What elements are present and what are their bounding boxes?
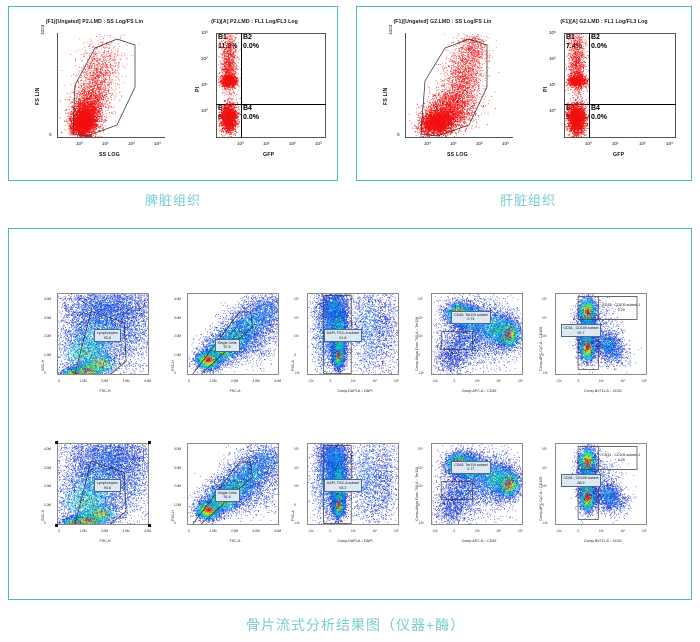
y-tick-4: 10⁵ [294, 297, 299, 301]
x-tick-3: 3.0M [253, 529, 260, 533]
y-tick-0: -10³ [542, 521, 548, 525]
x-tick-1: 1.0M [80, 379, 87, 383]
gate-label-2[interactable]: CD31 , CD105 subset-10.25 [599, 451, 643, 464]
y-tick-1: 0 [542, 503, 544, 507]
y-tick-3: 10⁴ [294, 316, 299, 320]
x-tick-4: 10⁵ [642, 529, 647, 533]
gate-label[interactable]: Lymphocytes90.8 [94, 479, 121, 492]
y-tick-0: 0 [174, 371, 176, 375]
y-tick-0: -10³ [418, 521, 424, 525]
plot-frame[interactable] [431, 443, 523, 525]
bone-plot-lymphocytes-row2: FSC-HSSC-H01.0M2.0M3.0M4.0M01.0M2.0M3.0M… [31, 437, 153, 545]
x-tick-1: 0 [330, 379, 332, 383]
x-axis-label: FSC-H [59, 389, 151, 393]
x-axis-label: Comp-BV711-A :: CD31 [557, 389, 649, 393]
y-tick-0: -10³ [294, 521, 300, 525]
x-tick-2: 10³ [599, 529, 604, 533]
dot-cloud [525, 15, 685, 165]
selection-handle-2[interactable] [55, 524, 58, 527]
y-tick-4: 4.0M [174, 447, 181, 451]
bone-plot-dapi-row2: Comp-DAPI-A :: DAPIFSC-A-10³010³10⁴10⁵-1… [281, 437, 403, 545]
x-tick-0: -10³ [556, 529, 562, 533]
x-tick-3: 3.0M [253, 379, 260, 383]
gate-polygon[interactable] [17, 15, 172, 165]
x-tick-0: -10³ [556, 379, 562, 383]
gate-label[interactable]: Single Cells97.6 [215, 339, 240, 352]
bone-plot-singlecells-row1: FSC-AFSC-H01.0M2.0M3.0M4.0M01.0M2.0M3.0M… [161, 287, 283, 395]
bone-plot-cd45-row1: Comp-APC-A :: CD45Comp-Alexa Fluor 700-A… [405, 287, 527, 395]
x-tick-3: 10⁴ [497, 529, 502, 533]
plot-frame[interactable] [431, 293, 523, 375]
y-tick-0: -10³ [542, 371, 548, 375]
y-tick-2: 10³ [294, 484, 299, 488]
y-tick-0: -10³ [418, 371, 424, 375]
y-tick-2: 10³ [418, 484, 423, 488]
y-tick-4: 4.0M [44, 447, 51, 451]
x-tick-1: 0 [454, 529, 456, 533]
x-tick-3: 3.0M [123, 529, 130, 533]
x-tick-4: 10⁵ [518, 529, 523, 533]
density-canvas [188, 294, 279, 375]
density-canvas [432, 294, 523, 375]
y-tick-2: 2.0M [44, 334, 51, 338]
y-tick-1: 1.0M [174, 503, 181, 507]
caption-bottom: 骨片流式分析结果图（仪器+酶） [246, 615, 465, 635]
density-canvas [432, 444, 523, 525]
x-tick-4: 10⁵ [518, 379, 523, 383]
plot-frame[interactable] [187, 293, 279, 375]
x-tick-3: 10⁴ [373, 379, 378, 383]
x-tick-1: 1.0M [210, 529, 217, 533]
x-tick-0: 0 [58, 379, 60, 383]
x-tick-1: 0 [330, 529, 332, 533]
y-tick-3: 3.0M [44, 466, 51, 470]
y-tick-1: 1.0M [44, 353, 51, 357]
x-tick-2: 10³ [475, 379, 480, 383]
gate-label-2[interactable]: CD31 , CD105 subset-10.20 [599, 301, 643, 314]
y-tick-2: 2.0M [174, 334, 181, 338]
x-tick-3: 10⁴ [497, 379, 502, 383]
x-axis-label: Comp-DAPI-A :: DAPI [309, 539, 401, 543]
x-tick-0: -10³ [308, 379, 314, 383]
x-tick-0: 0 [58, 529, 60, 533]
y-axis-label: SSC-H [41, 510, 45, 521]
x-tick-2: 2.0M [101, 529, 108, 533]
x-tick-4: 10⁵ [394, 529, 399, 533]
y-tick-3: 3.0M [44, 316, 51, 320]
y-tick-0: 0 [44, 521, 46, 525]
y-tick-4: 4.0M [174, 297, 181, 301]
y-tick-1: 0 [418, 503, 420, 507]
y-tick-3: 10⁴ [294, 466, 299, 470]
y-axis-label: SSC-H [41, 360, 45, 371]
y-tick-3: 3.0M [174, 316, 181, 320]
y-tick-2: 10³ [294, 334, 299, 338]
x-tick-2: 10³ [475, 529, 480, 533]
y-axis-label: FSC-A [291, 360, 295, 371]
x-tick-2: 2.0M [231, 529, 238, 533]
selection-handle-3[interactable] [148, 524, 151, 527]
x-tick-2: 10³ [351, 529, 356, 533]
x-tick-3: 10⁴ [621, 379, 626, 383]
y-tick-4: 4.0M [44, 297, 51, 301]
y-axis-label: Comp-Alexa Fluor 700-A :: Ter119 [415, 317, 419, 371]
caption-liver: 肝脏组织 [500, 190, 556, 209]
y-tick-1: 1.0M [174, 353, 181, 357]
gate-polygon[interactable] [365, 15, 520, 165]
y-tick-1: 0 [418, 353, 420, 357]
x-tick-2: 2.0M [231, 379, 238, 383]
y-tick-3: 10⁴ [542, 466, 547, 470]
x-axis-label: FSC-H [59, 539, 151, 543]
gate-label[interactable]: Lymphocytes93.8 [94, 329, 121, 342]
x-tick-0: -10³ [308, 529, 314, 533]
gate-label[interactable]: CD45, Ter119 subset0.74 [451, 311, 490, 324]
x-tick-3: 10⁴ [621, 529, 626, 533]
y-tick-3: 10⁴ [542, 316, 547, 320]
x-tick-2: 2.0M [101, 379, 108, 383]
bone-plot-cd45-row2: Comp-APC-A :: CD45Comp-Alexa Fluor 700-A… [405, 437, 527, 545]
x-axis-label: FSC-A [189, 389, 281, 393]
x-tick-3: 3.0M [123, 379, 130, 383]
y-tick-3: 10⁴ [418, 316, 423, 320]
x-axis-label: Comp-BV711-A :: CD31 [557, 539, 649, 543]
y-tick-1: 0 [294, 503, 296, 507]
liver-gfp-pi-plot: (F1)[A] G2.LMD : FL1 Log/FL3 Log 10³ 10²… [525, 15, 685, 165]
plot-frame[interactable] [187, 443, 279, 525]
y-tick-2: 2.0M [44, 484, 51, 488]
y-tick-4: 10⁵ [418, 297, 423, 301]
caption-spleen: 脾脏组织 [145, 190, 201, 209]
x-axis-label: Comp-APC-A :: CD45 [433, 389, 525, 393]
y-tick-4: 10⁵ [294, 447, 299, 451]
selection-handle-0[interactable] [55, 441, 58, 444]
x-tick-4: 4.0M [144, 529, 151, 533]
spleen-gfp-pi-plot: (F1)[A] P2.LMD : FL1 Log/FL3 Log 10³ 10²… [177, 15, 332, 165]
x-tick-1: 0 [578, 379, 580, 383]
y-tick-1: 0 [542, 353, 544, 357]
gate-label[interactable]: CD31 , CD105 subset92.7 [561, 324, 602, 337]
x-tick-4: 10⁵ [642, 379, 647, 383]
gate-label[interactable]: DAPI, FSC-A subset93.2 [324, 479, 363, 492]
x-tick-4: 10⁵ [394, 379, 399, 383]
dot-cloud [177, 15, 332, 165]
x-tick-0: 0 [188, 529, 190, 533]
x-tick-1: 0 [578, 529, 580, 533]
y-tick-4: 10⁵ [542, 447, 547, 451]
bone-plot-lymphocytes-row1: FSC-HSSC-H01.0M2.0M3.0M4.0M01.0M2.0M3.0M… [31, 287, 153, 395]
y-axis-label: FSC-H [171, 510, 175, 521]
x-axis-label: FSC-A [189, 539, 281, 543]
x-tick-1: 1.0M [80, 529, 87, 533]
gate-label[interactable]: CD31 , CD105 subset88.9 [561, 474, 602, 487]
bone-plot-cd31-row2: Comp-BV711-A :: CD31Comp-APC-Cy7-A :: CD… [529, 437, 651, 545]
y-tick-3: 10⁴ [418, 466, 423, 470]
x-tick-0: -10³ [432, 379, 438, 383]
gate-label[interactable]: DAPI, FSC-A subset91.6 [324, 329, 363, 342]
x-tick-2: 10³ [599, 379, 604, 383]
y-tick-3: 3.0M [174, 466, 181, 470]
y-tick-0: 0 [44, 371, 46, 375]
x-tick-1: 0 [454, 379, 456, 383]
y-tick-2: 10³ [542, 334, 547, 338]
selection-handle-1[interactable] [148, 441, 151, 444]
liver-ssc-fsc-plot: (F1)[Ungated] G2.LMD : SS Log/FS Lin 102… [365, 15, 520, 165]
gate-label[interactable]: CD45, Ter119 subset0.77 [451, 461, 490, 474]
y-tick-1: 1.0M [44, 503, 51, 507]
bone-plot-singlecells-row2: FSC-AFSC-H01.0M2.0M3.0M4.0M01.0M2.0M3.0M… [161, 437, 283, 545]
x-tick-1: 1.0M [210, 379, 217, 383]
y-tick-2: 10³ [418, 334, 423, 338]
y-axis-label: FSC-A [291, 510, 295, 521]
spleen-panel: (F1)[Ungated] P2.LMD : SS Log/FS Lin 102… [8, 6, 338, 181]
spleen-ssc-fsc-plot: (F1)[Ungated] P2.LMD : SS Log/FS Lin 102… [17, 15, 172, 165]
gate-label[interactable]: Single Cells91.6 [215, 489, 240, 502]
bone-plot-dapi-row1: Comp-DAPI-A :: DAPIFSC-A-10³010³10⁴10⁵-1… [281, 287, 403, 395]
x-tick-4: 4.0M [144, 379, 151, 383]
x-tick-2: 10³ [351, 379, 356, 383]
y-axis-label: Comp-Alexa Fluor 700-A :: Ter119 [415, 467, 419, 521]
y-tick-2: 10³ [542, 484, 547, 488]
x-tick-3: 10⁴ [373, 529, 378, 533]
bone-flow-panel: FSC-HSSC-H01.0M2.0M3.0M4.0M01.0M2.0M3.0M… [8, 228, 692, 600]
density-canvas [188, 444, 279, 525]
x-axis-label: Comp-DAPI-A :: DAPI [309, 389, 401, 393]
y-tick-1: 0 [294, 353, 296, 357]
y-tick-4: 10⁵ [542, 297, 547, 301]
y-tick-2: 2.0M [174, 484, 181, 488]
liver-panel: (F1)[Ungated] G2.LMD : SS Log/FS Lin 102… [356, 6, 692, 181]
bone-plot-cd31-row1: Comp-BV711-A :: CD31Comp-APC-Cy7-A :: CD… [529, 287, 651, 395]
y-tick-0: -10³ [294, 371, 300, 375]
y-tick-0: 0 [174, 521, 176, 525]
x-tick-0: 0 [188, 379, 190, 383]
x-axis-label: Comp-APC-A :: CD45 [433, 539, 525, 543]
y-axis-label: FSC-H [171, 360, 175, 371]
x-tick-0: -10³ [432, 529, 438, 533]
y-tick-4: 10⁵ [418, 447, 423, 451]
